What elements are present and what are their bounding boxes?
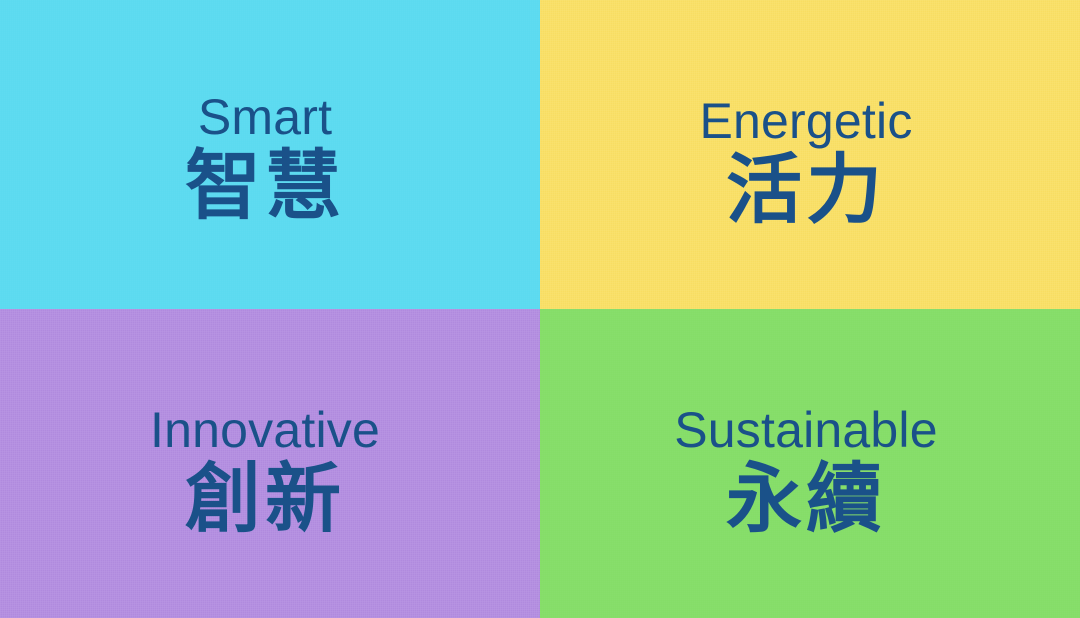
quadrant-energetic: Energetic 活力 <box>540 0 1080 309</box>
quadrant-innovative: Innovative 創新 <box>0 309 540 618</box>
english-label-smart: Smart <box>198 92 332 142</box>
label-group-sustainable: Sustainable 永續 <box>540 309 1076 537</box>
quadrant-smart: Smart 智慧 <box>0 0 540 309</box>
chinese-label-energetic: 活力 <box>726 152 886 228</box>
chinese-label-sustainable: 永續 <box>726 461 886 537</box>
label-group-smart: Smart 智慧 <box>0 0 535 224</box>
label-group-innovative: Innovative 創新 <box>0 309 535 537</box>
english-label-innovative: Innovative <box>150 405 380 455</box>
chinese-label-innovative: 創新 <box>185 461 345 537</box>
english-label-sustainable: Sustainable <box>674 405 938 455</box>
english-label-energetic: Energetic <box>699 96 912 146</box>
label-group-energetic: Energetic 活力 <box>540 0 1076 228</box>
brand-values-grid: Smart 智慧 Energetic 活力 Innovative 創新 Sust… <box>0 0 1080 618</box>
quadrant-sustainable: Sustainable 永續 <box>540 309 1080 618</box>
chinese-label-smart: 智慧 <box>185 148 345 224</box>
